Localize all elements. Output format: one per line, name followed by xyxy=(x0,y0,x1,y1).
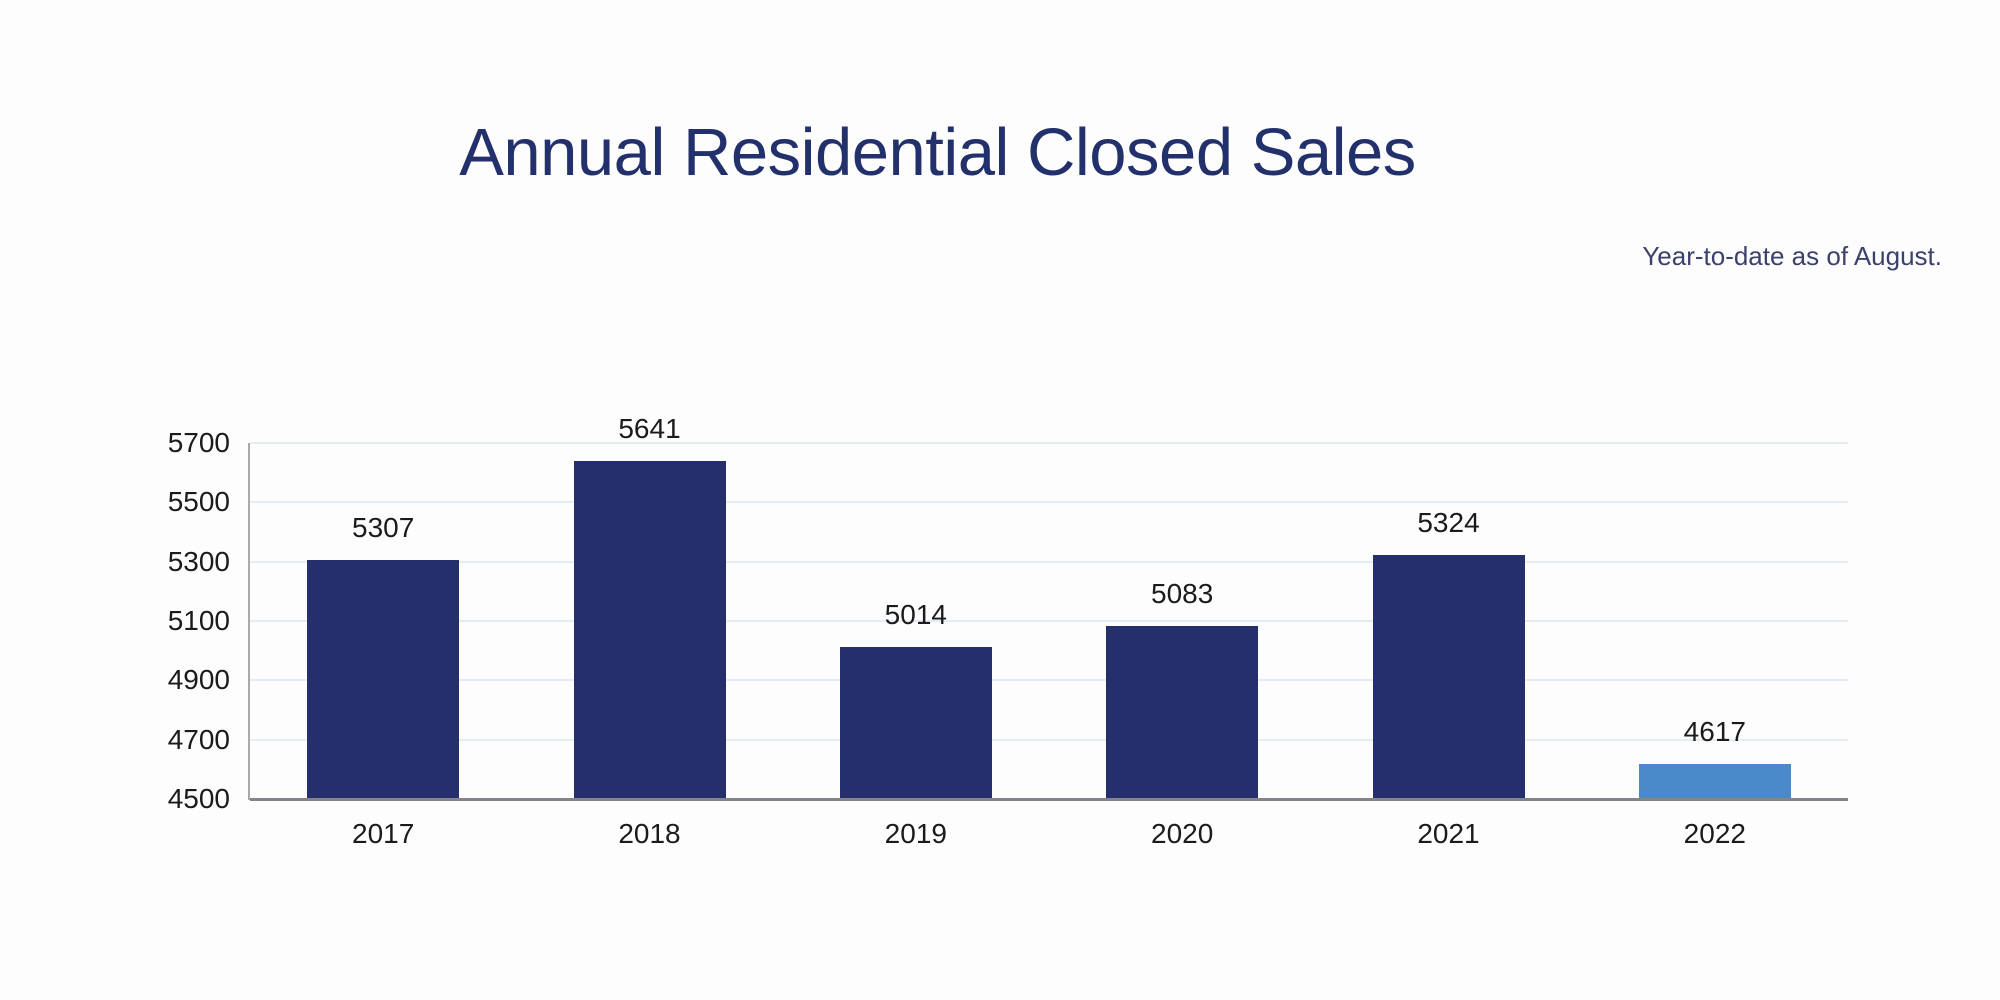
bar-value-label: 5641 xyxy=(618,415,680,443)
x-axis-label-2021: 2021 xyxy=(1315,820,1581,848)
bar-value-label: 5324 xyxy=(1417,509,1479,537)
x-axis-label-2018: 2018 xyxy=(516,820,782,848)
bar-rect[interactable] xyxy=(1373,555,1525,799)
bar-rect[interactable] xyxy=(1106,626,1258,799)
y-axis-tick-label: 4700 xyxy=(130,726,230,754)
bar-rect[interactable] xyxy=(1639,764,1791,799)
y-axis-tick-label: 4500 xyxy=(130,785,230,813)
x-axis-line xyxy=(250,798,1848,801)
bar-value-label: 4617 xyxy=(1684,718,1746,746)
gridline xyxy=(250,620,1848,622)
bar-rect[interactable] xyxy=(840,647,992,799)
bar-chart: 5700550053005100490047004500 53075641501… xyxy=(0,0,2000,1000)
gridline xyxy=(250,739,1848,741)
y-axis-tick-label: 5500 xyxy=(130,488,230,516)
y-axis-tick-label: 5300 xyxy=(130,548,230,576)
y-axis-tick-label: 5100 xyxy=(130,607,230,635)
y-axis-tick-labels: 5700550053005100490047004500 xyxy=(130,443,230,799)
gridline xyxy=(250,501,1848,503)
bar-rect[interactable] xyxy=(574,461,726,799)
x-axis-label-2020: 2020 xyxy=(1049,820,1315,848)
bar-2017[interactable]: 5307 xyxy=(307,443,459,799)
gridline xyxy=(250,561,1848,563)
bar-value-label: 5083 xyxy=(1151,580,1213,608)
x-axis-label-2019: 2019 xyxy=(783,820,1049,848)
bar-2022[interactable]: 4617 xyxy=(1639,443,1791,799)
y-axis-tick-label: 4900 xyxy=(130,666,230,694)
x-axis-label-2017: 2017 xyxy=(250,820,516,848)
y-axis-tick-label: 5700 xyxy=(130,429,230,457)
bar-value-label: 5014 xyxy=(885,601,947,629)
gridline xyxy=(250,442,1848,444)
bar-2019[interactable]: 5014 xyxy=(840,443,992,799)
bar-rect[interactable] xyxy=(307,560,459,799)
x-axis-label-2022: 2022 xyxy=(1582,820,1848,848)
bar-2018[interactable]: 5641 xyxy=(574,443,726,799)
bar-2021[interactable]: 5324 xyxy=(1373,443,1525,799)
bar-value-label: 5307 xyxy=(352,514,414,542)
gridline xyxy=(250,679,1848,681)
plot-area: 530756415014508353244617 xyxy=(250,443,1848,799)
bar-2020[interactable]: 5083 xyxy=(1106,443,1258,799)
